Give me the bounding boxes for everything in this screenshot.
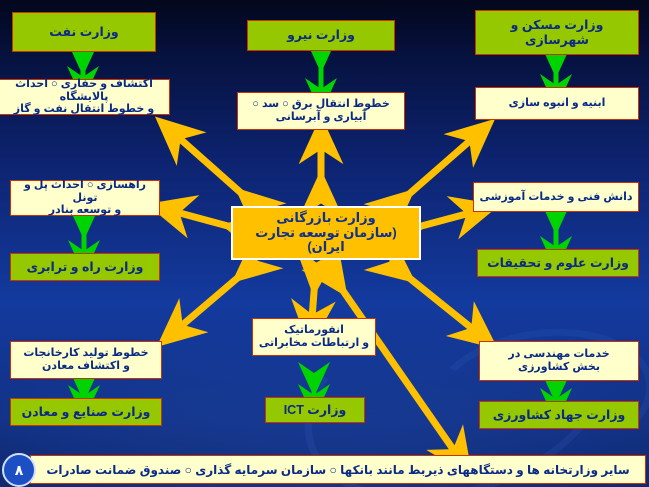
activity-line-1: اکتشاف و حفاری ○ احداث پالایشگاه <box>1 78 167 103</box>
center-line-1: وزارت بازرگانی <box>276 211 375 226</box>
activity-line-1: خدمات مهندسی در <box>508 348 609 361</box>
ministry-label: وزارت نیرو <box>287 28 355 42</box>
activity-line-1: دانش فنی و خدمات آموزشی <box>480 191 633 204</box>
node-activity-oil[interactable]: اکتشاف و حفاری ○ احداث پالایشگاه و خطوط … <box>0 79 170 115</box>
activity-line-1: خطوط تولید کارخانجات <box>23 347 148 360</box>
node-ministry-ict[interactable]: وزارت ICT <box>265 397 365 423</box>
node-activity-science[interactable]: دانش فنی و خدمات آموزشی <box>473 182 639 212</box>
ministry-label: وزارت راه و ترابری <box>27 260 144 274</box>
activity-line-1: انفورماتیک <box>284 324 344 337</box>
ministry-label: وزارت نفت <box>49 25 118 39</box>
activity-line-2: و توسعه بنادر <box>49 204 121 217</box>
center-line-2: (سازمان توسعه تجارت ایران) <box>235 226 417 256</box>
node-activity-roads[interactable]: راهسازی ○ احداث پل و تونل و توسعه بنادر <box>10 180 160 216</box>
activity-line-2: و خطوط انتقال نفت و گاز <box>14 103 154 116</box>
activity-line-2: و اکتشاف معادن <box>42 360 130 373</box>
page-number-label: ۸ <box>15 462 24 479</box>
activity-line-2: بخش کشاورزی <box>518 361 600 374</box>
node-center-ministry-of-commerce[interactable]: وزارت بازرگانی (سازمان توسعه تجارت ایران… <box>231 206 421 260</box>
page-number-badge: ۸ <box>2 453 36 487</box>
slide-canvas: وزارت نفت اکتشاف و حفاری ○ احداث پالایشگ… <box>0 0 649 487</box>
ministry-label: وزارت ICT <box>284 403 347 417</box>
node-activity-energy[interactable]: خطوط انتقال برق ○ سد ○ آبیاری و آبرسانی <box>237 92 405 130</box>
ministry-label: وزارت مسکن و شهرسازی <box>478 18 636 47</box>
node-ministry-agriculture[interactable]: وزارت جهاد کشاورزی <box>479 401 639 429</box>
node-ministry-oil[interactable]: وزارت نفت <box>12 12 156 52</box>
ministry-label: وزارت صنایع و معادن <box>22 405 151 419</box>
node-ministry-energy[interactable]: وزارت نیرو <box>247 20 395 51</box>
activity-line-1: راهسازی ○ احداث پل و تونل <box>13 179 157 204</box>
node-activity-housing[interactable]: ابنیه و انبوه سازی <box>475 87 639 120</box>
bottom-bar-label: سایر وزارتخانه ها و دستگاههای ذیربط مانن… <box>46 463 629 477</box>
node-activity-agriculture[interactable]: خدمات مهندسی در بخش کشاورزی <box>479 341 639 381</box>
node-activity-ict[interactable]: انفورماتیک و ارتباطات مخابراتی <box>252 318 376 356</box>
node-ministry-science[interactable]: وزارت علوم و تحقیقات <box>477 249 639 277</box>
activity-line-2: آبیاری و آبرسانی <box>276 111 367 124</box>
bottom-bar-other-organizations[interactable]: سایر وزارتخانه ها و دستگاههای ذیربط مانن… <box>30 455 646 484</box>
node-ministry-industry[interactable]: وزارت صنایع و معادن <box>10 398 162 426</box>
activity-line-1: ابنیه و انبوه سازی <box>509 97 606 110</box>
activity-line-2: و ارتباطات مخابراتی <box>259 337 369 350</box>
node-ministry-housing[interactable]: وزارت مسکن و شهرسازی <box>475 10 639 55</box>
ministry-label: وزارت جهاد کشاورزی <box>493 408 626 422</box>
node-ministry-roads[interactable]: وزارت راه و ترابری <box>10 253 160 281</box>
ministry-label: وزارت علوم و تحقیقات <box>487 256 629 270</box>
activity-line-1: خطوط انتقال برق ○ سد ○ <box>252 98 390 111</box>
node-activity-industry[interactable]: خطوط تولید کارخانجات و اکتشاف معادن <box>10 341 162 379</box>
